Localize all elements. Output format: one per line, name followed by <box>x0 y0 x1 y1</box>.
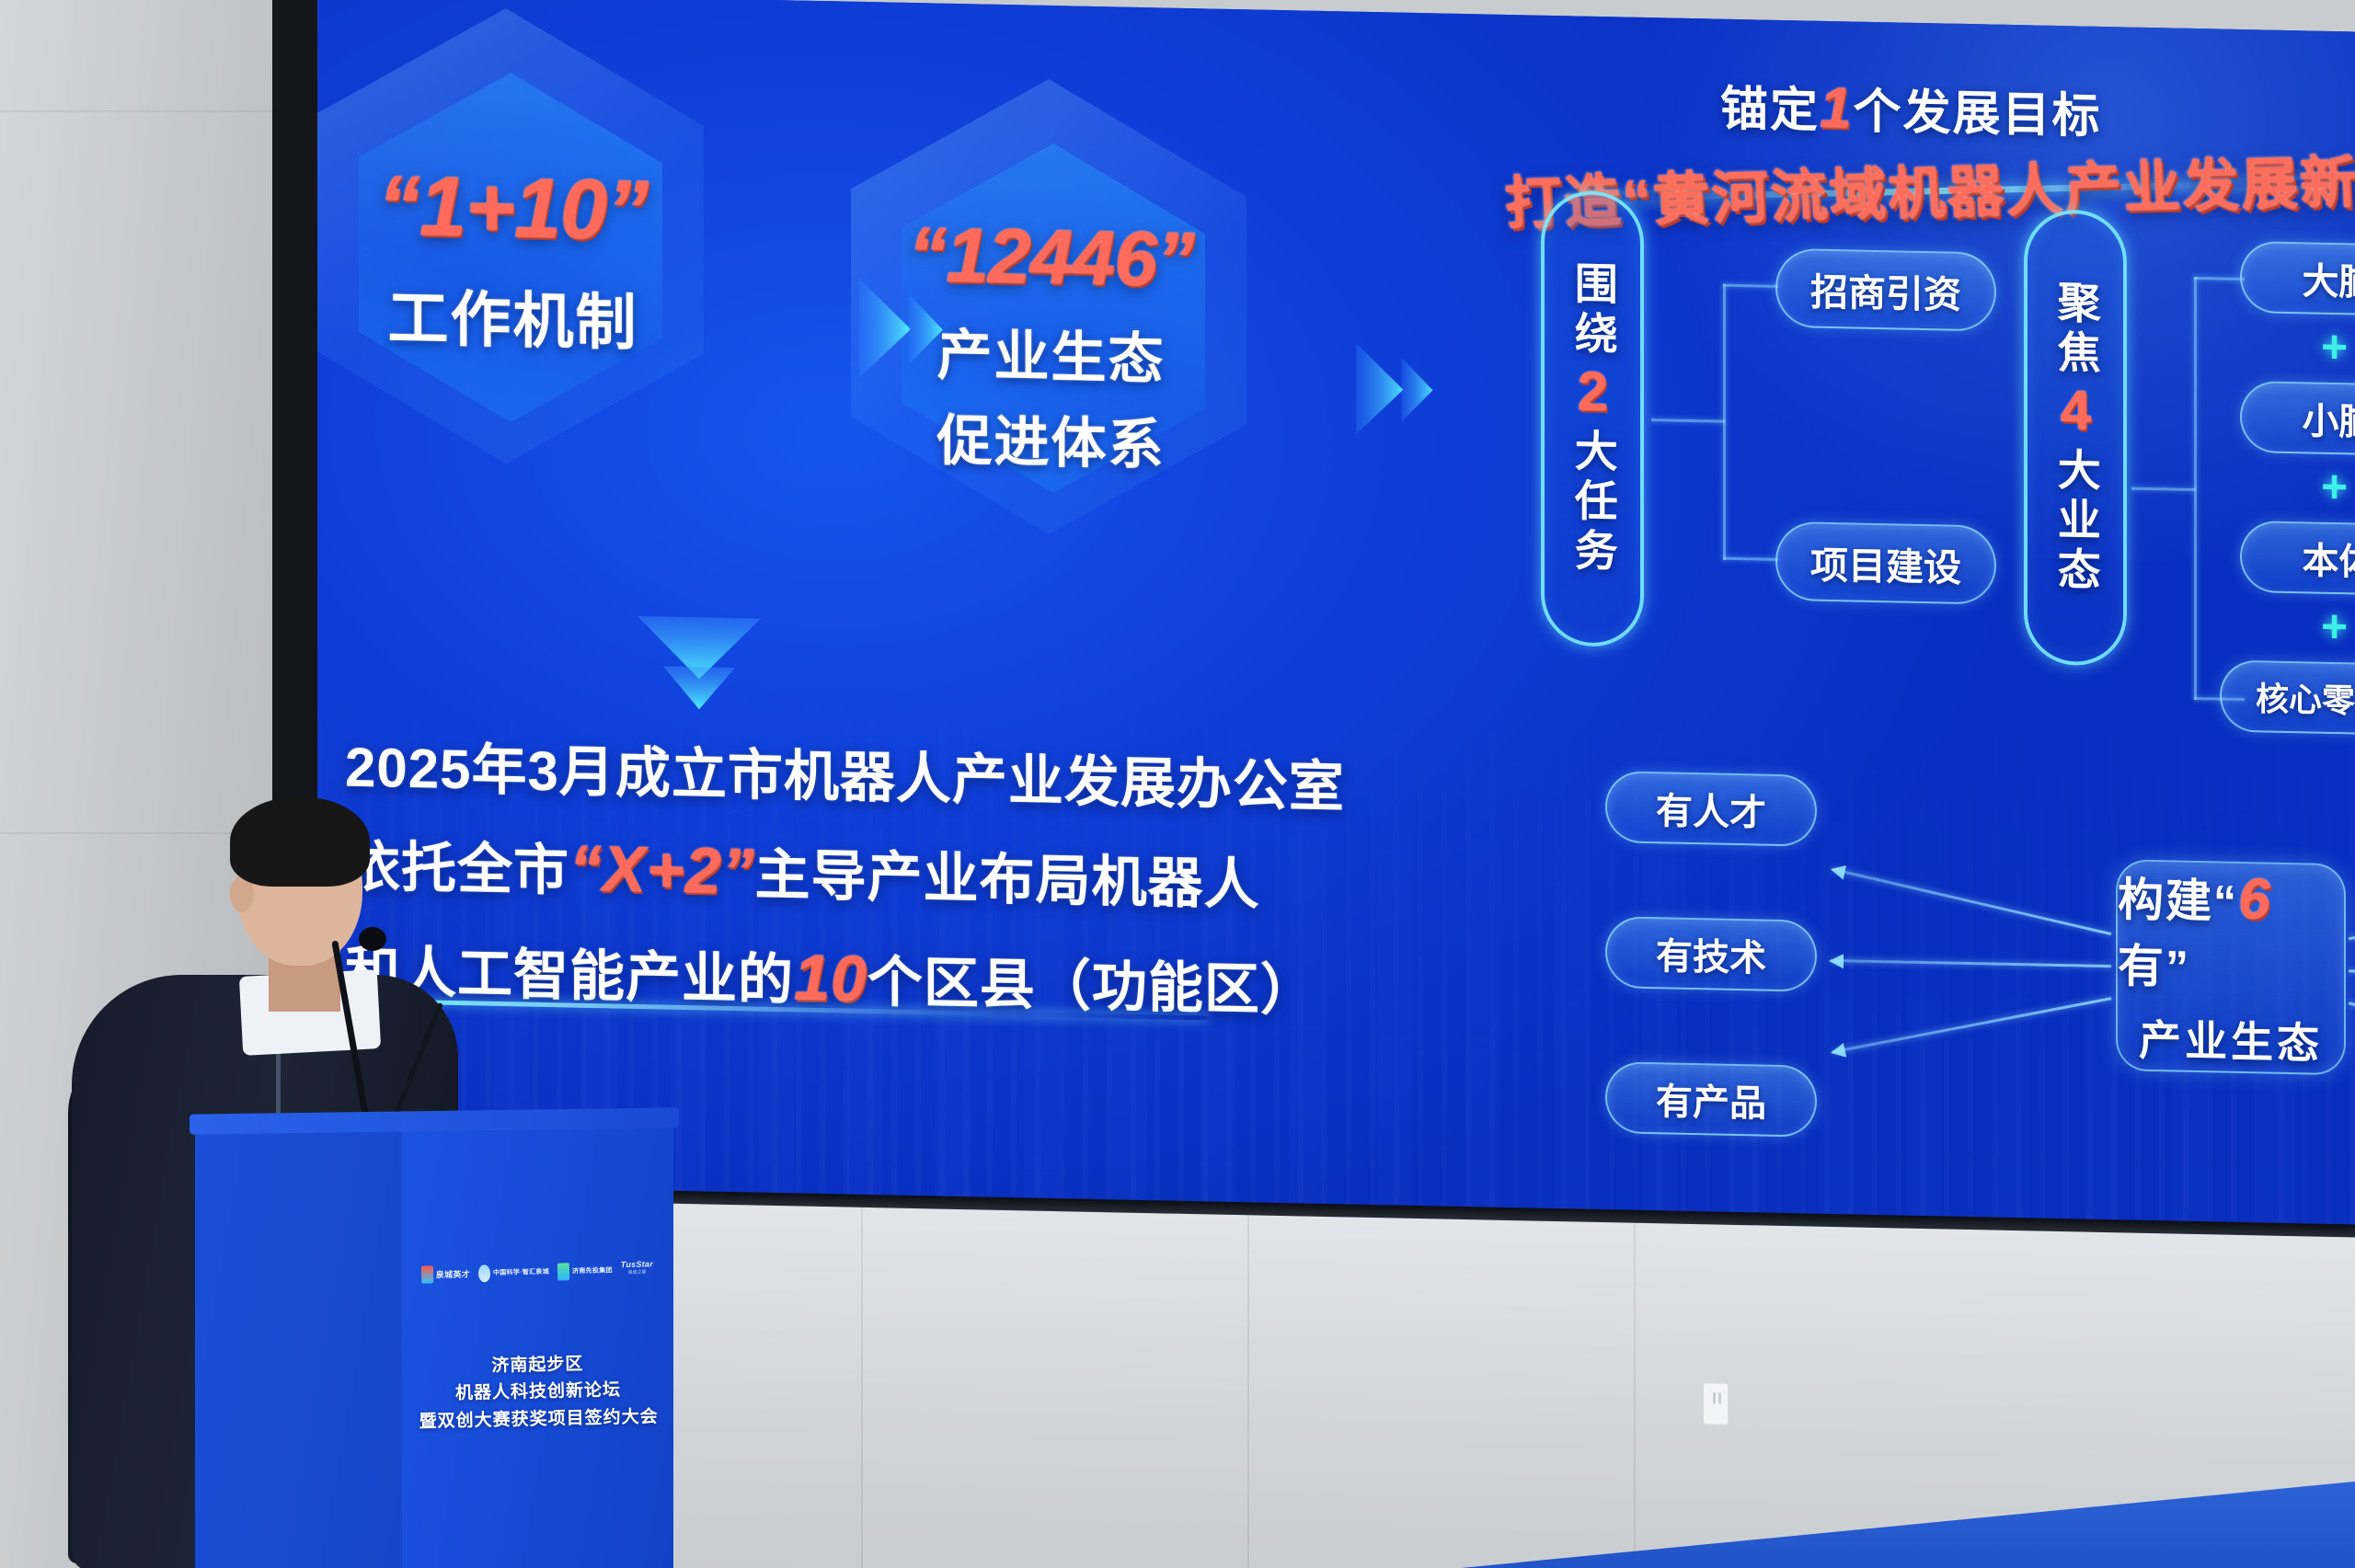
col2-post: 大业态 <box>2051 446 2100 596</box>
slide-paragraph: 2025年3月成立市机器人产业发展办公室 依托全市“X+2”主导产业布局机器人 … <box>345 723 1375 1041</box>
paragraph-line-2-a: 依托全市 <box>345 836 569 902</box>
column-header-1-text: 围绕2大任务 <box>1563 260 1622 578</box>
podium-event-title: 济南起步区 机器人科技创新论坛 暨双创大赛获奖项目签约大会 <box>418 1349 659 1436</box>
col1-post: 大任务 <box>1568 428 1617 578</box>
logo-glyph <box>421 1265 433 1283</box>
ecosystem-hub-line1: 构建“6有” <box>2118 863 2344 1000</box>
sponsor-logo-1: 中国科学·智汇泉城 <box>478 1262 549 1284</box>
speaker-hair <box>230 796 370 887</box>
double-chevron-right-icon-2 <box>1352 338 1463 446</box>
pill-col2-2[interactable]: 本体 <box>2240 521 2355 596</box>
paragraph-line-2-b: 主导产业布局机器人 <box>755 844 1260 916</box>
sponsor-logo-3-text: TusStar <box>621 1259 654 1269</box>
sponsor-logo-3: TusStar 启迪之星 <box>621 1259 654 1280</box>
wall-seam <box>0 110 276 112</box>
sponsor-logo-2-text: 济南先投集团 <box>572 1265 613 1276</box>
paragraph-highlight-10: 10 <box>794 941 867 1014</box>
hex-2-title-line2: 促进体系 <box>883 395 1219 481</box>
connector <box>2194 277 2197 700</box>
anchor-suffix: 个发展目标 <box>1854 86 2102 143</box>
podium-title-line-3: 暨双创大赛获奖项目签约大会 <box>419 1403 659 1436</box>
logo-glyph <box>478 1265 490 1282</box>
plus-icon: + <box>2321 603 2348 650</box>
sponsor-logo-0-text: 泉城英才 <box>436 1267 470 1280</box>
hub-num: 6 <box>2238 867 2271 932</box>
pill-col1-1[interactable]: 项目建设 <box>1775 521 1996 605</box>
hub-quote-close: ” <box>2165 941 2190 993</box>
sponsor-logo-0: 泉城英才 <box>421 1264 471 1285</box>
pill-col2-3[interactable]: 核心零部件 <box>2220 660 2355 737</box>
eco-node-left-1[interactable]: 有技术 <box>1605 916 1817 992</box>
hex-1-number: “1+10” <box>345 157 681 260</box>
anchor-goal-title: 锚定1个发展目标 <box>1720 70 2102 146</box>
hub-post: 有 <box>2118 940 2165 992</box>
chevron-down-icon <box>630 609 768 736</box>
paragraph-highlight-x2: “X+2” <box>569 832 755 908</box>
pill-col2-0[interactable]: 大脑 <box>2240 241 2355 316</box>
anchor-number: 1 <box>1820 76 1853 141</box>
eco-node-left-2[interactable]: 有产品 <box>1605 1061 1817 1138</box>
pill-col1-0[interactable]: 招商引资 <box>1775 248 1996 332</box>
ecosystem-hub[interactable]: 构建“6有” 产业生态 <box>2116 859 2346 1075</box>
col2-num: 4 <box>2045 378 2107 447</box>
led-screen: “1+10” 工作机制 “12446” 产业生态 促进体系 <box>317 0 2355 1269</box>
sponsor-logo-3-sub: 启迪之星 <box>627 1269 646 1276</box>
col1-pre: 围绕 <box>1568 260 1617 361</box>
plus-icon: + <box>2321 464 2348 510</box>
paragraph-line-2: 依托全市“X+2”主导产业布局机器人 <box>345 812 1375 937</box>
sponsor-logo-2: 济南先投集团 <box>557 1260 613 1281</box>
double-chevron-right-icon-1 <box>856 273 975 391</box>
hex-1-title: 工作机制 <box>345 269 681 363</box>
microphone-head-icon <box>359 927 386 951</box>
column-header-2: 聚焦4大业态 <box>2024 209 2127 666</box>
anchor-prefix: 锚定 <box>1720 83 1820 138</box>
connector <box>1723 284 1726 560</box>
hub-quote-open: “ <box>2213 876 2238 928</box>
eco-node-left-0[interactable]: 有人才 <box>1605 771 1817 847</box>
sponsor-logo-1-text: 中国科学·智汇泉城 <box>493 1267 549 1277</box>
paragraph-line-3: 和人工智能产业的10个区县（功能区） <box>345 916 1375 1041</box>
col1-num: 2 <box>1562 360 1624 429</box>
podium-left-face <box>195 1122 402 1568</box>
logo-glyph <box>557 1263 569 1280</box>
wall-outlet <box>1703 1382 1729 1425</box>
hex-1-label: “1+10” 工作机制 <box>345 157 681 363</box>
hub-pre: 构建 <box>2118 874 2213 927</box>
conference-photo-scene: “1+10” 工作机制 “12446” 产业生态 促进体系 <box>0 0 2355 1568</box>
column-header-2-text: 聚焦4大业态 <box>2046 279 2105 596</box>
pill-col2-1[interactable]: 小脑 <box>2240 381 2355 456</box>
col2-pre: 聚焦 <box>2051 279 2100 379</box>
plus-icon: + <box>2321 324 2348 371</box>
ecosystem-hub-line2: 产业生态 <box>2139 1007 2323 1071</box>
column-header-1: 围绕2大任务 <box>1541 190 1644 647</box>
